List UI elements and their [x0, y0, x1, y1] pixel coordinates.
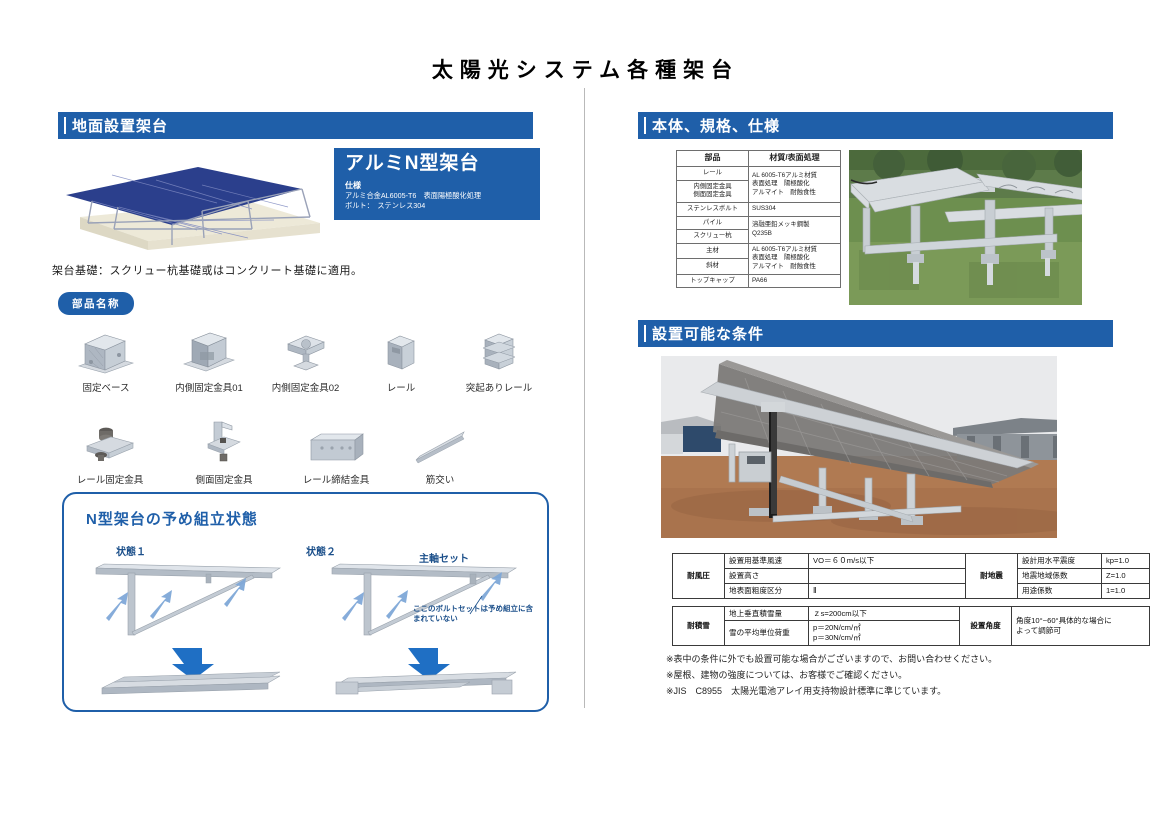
assembly-state-1-diagram	[84, 556, 294, 701]
cell-part: ステンレスボルト	[677, 202, 749, 216]
cell-part: レール	[677, 167, 749, 181]
rail-fixing-clamp-icon	[52, 414, 168, 466]
product-spec-label: 仕様	[345, 180, 531, 191]
table-row: ステンレスボルト SUS304	[677, 202, 841, 216]
base-bracket-icon	[52, 322, 160, 374]
brace-rod-icon	[392, 414, 488, 466]
footnotes: ※表中の条件に外でも設置可能な場合がございますので、お問い合わせください。 ※屋…	[666, 652, 1156, 699]
footnote-2: ※屋根、建物の強度については、お客様でご確認ください。	[666, 668, 1156, 684]
snow-angle-table: 耐積雪 地上垂直積雪量 ｚs=200cm以下 設置角度 角度10°~60°具体的…	[672, 606, 1150, 647]
part-caption: 側面固定金具	[168, 472, 280, 486]
wind-value-1: VO＝６０m/s以下	[809, 554, 966, 569]
quake-key-2: 地震地域係数	[1018, 568, 1102, 583]
section-header-ground-mount: 地面設置架台	[58, 112, 533, 139]
table-row: 設置高さ 地震地域係数 Z=1.0	[673, 568, 1150, 583]
part-caption: 筋交い	[392, 472, 488, 486]
product-spec-line-1: アルミ合金AL6005-T6 表面陽極酸化処理	[345, 191, 531, 201]
cell-part: 主材	[677, 243, 749, 258]
snow-key-1: 地上垂直積雪量	[725, 606, 809, 621]
specification-tables: 耐風圧 設置用基準風速 VO＝６０m/s以下 耐地震 設計用水平震度 kp=1.…	[672, 553, 1150, 646]
table-row: トップキャップ PA66	[677, 274, 841, 288]
quake-key-1: 設計用水平震度	[1018, 554, 1102, 569]
part-item: 筋交い	[392, 414, 488, 486]
part-item: 固定ベース	[52, 322, 160, 394]
parts-gallery: 固定ベース 内側固定金具01	[52, 322, 552, 486]
wind-key-1: 設置用基準風速	[725, 554, 809, 569]
snow-value-2: p＝20N/cm/㎡ p＝30N/cm/㎡	[809, 621, 960, 646]
table-row: レール AL 6005-T6アルミ材質 表面処理 陽極酸化 アルマイト 耐蝕食性	[677, 167, 841, 181]
cell-material: 溶融亜鉛メッキ鋼製 Q235B	[749, 216, 841, 243]
cell-part: 内側固定金具 側面固定金具	[677, 180, 749, 202]
foundation-note: 架台基礎：スクリュー杭基礎或はコンクリート基礎に適用。	[52, 262, 363, 278]
rail-splice-icon	[280, 414, 392, 466]
quake-value-2: Z=1.0	[1102, 568, 1150, 583]
table-header-row: 部品 材質/表面処理	[677, 151, 841, 167]
section-header-body-spec: 本体、規格、仕様	[638, 112, 1113, 139]
table-row: 耐風圧 設置用基準風速 VO＝６０m/s以下 耐地震 設計用水平震度 kp=1.…	[673, 554, 1150, 569]
part-caption: 突起ありレール	[449, 380, 549, 394]
assembly-state-2-diagram	[320, 556, 530, 701]
table-row: 耐積雪 地上垂直積雪量 ｚs=200cm以下 設置角度 角度10°~60°具体的…	[673, 606, 1150, 621]
table-row: 主材 AL 6005-T6アルミ材質 表面処理 陽極酸化 アルマイト 耐蝕食性	[677, 243, 841, 258]
brochure-page: 太陽光システム各種架台 地面設置架台	[0, 0, 1171, 813]
quake-value-3: 1=1.0	[1102, 583, 1150, 598]
col-header-part: 部品	[677, 151, 749, 167]
part-caption: 内側固定金具02	[258, 380, 353, 394]
parts-row-1: 固定ベース 内側固定金具01	[52, 322, 552, 394]
wind-key-3: 地表面粗度区分	[725, 583, 809, 598]
column-divider	[584, 88, 585, 708]
cell-material: AL 6005-T6アルミ材質 表面処理 陽極酸化 アルマイト 耐蝕食性	[749, 243, 841, 274]
material-table: 部品 材質/表面処理 レール AL 6005-T6アルミ材質 表面処理 陽極酸化…	[676, 150, 841, 288]
wind-value-3: Ⅱ	[809, 583, 966, 598]
product-spec-line-2: ボルト： ステンレス304	[345, 201, 531, 211]
ground-mount-illustration	[52, 145, 332, 250]
part-caption: レール固定金具	[52, 472, 168, 486]
wind-value-2	[809, 568, 966, 583]
quake-header: 耐地震	[966, 554, 1018, 599]
snow-key-2: 雪の平均単位荷重	[725, 621, 809, 646]
quake-key-3: 用途係数	[1018, 583, 1102, 598]
pre-assembly-panel: N型架台の予め組立状態 状態１ 状態２ 主軸セット	[62, 492, 549, 712]
wind-header: 耐風圧	[673, 554, 725, 599]
cell-part: スクリュー杭	[677, 230, 749, 244]
wind-key-2: 設置高さ	[725, 568, 809, 583]
page-title: 太陽光システム各種架台	[0, 54, 1171, 84]
cell-part: トップキャップ	[677, 274, 749, 288]
photo-installation-site	[661, 356, 1098, 538]
table-row: 地表面粗度区分 Ⅱ 用途係数 1=1.0	[673, 583, 1150, 598]
parts-row-2: レール固定金具 側面固定金具	[52, 414, 552, 486]
col-header-material: 材質/表面処理	[749, 151, 841, 167]
part-item: 内側固定金具02	[258, 322, 353, 394]
part-item: レール締結金具	[280, 414, 392, 486]
part-item: 内側固定金具01	[160, 322, 258, 394]
pre-assembly-title: N型架台の予め組立状態	[86, 508, 258, 529]
inner-clamp-01-icon	[160, 322, 258, 374]
parts-name-badge: 部品名称	[58, 292, 134, 315]
ribbed-rail-icon	[449, 322, 549, 374]
part-caption: 固定ベース	[52, 380, 160, 394]
cell-part: パイル	[677, 216, 749, 230]
snow-header: 耐積雪	[673, 606, 725, 646]
cell-material: PA66	[749, 274, 841, 288]
side-fixing-clamp-icon	[168, 414, 280, 466]
cell-part: 斜材	[677, 259, 749, 274]
rail-icon	[353, 322, 449, 374]
cell-material: SUS304	[749, 202, 841, 216]
table-row: パイル 溶融亜鉛メッキ鋼製 Q235B	[677, 216, 841, 230]
cell-material: AL 6005-T6アルミ材質 表面処理 陽極酸化 アルマイト 耐蝕食性	[749, 167, 841, 203]
part-caption: レール	[353, 380, 449, 394]
part-caption: レール締結金具	[280, 472, 392, 486]
part-caption: 内側固定金具01	[160, 380, 258, 394]
angle-header: 設置角度	[960, 606, 1012, 646]
product-spec-card: アルミN型架台 仕様 アルミ合金AL6005-T6 表面陽極酸化処理 ボルト： …	[334, 148, 540, 220]
photo-mount-structure	[849, 150, 1097, 305]
footnote-1: ※表中の条件に外でも設置可能な場合がございますので、お問い合わせください。	[666, 652, 1156, 668]
angle-value: 角度10°~60°具体的な場合に よって調節可	[1012, 606, 1150, 646]
part-item: 側面固定金具	[168, 414, 280, 486]
footnote-3: ※JIS C8955 太陽光電池アレイ用支持物設計標準に準じています。	[666, 684, 1156, 700]
bolt-set-note: ここのボルトセットは予め組立に含まれていない	[413, 604, 533, 624]
section-header-conditions: 設置可能な条件	[638, 320, 1113, 347]
snow-value-1: ｚs=200cm以下	[809, 606, 960, 621]
part-item: 突起ありレール	[449, 322, 549, 394]
product-name: アルミN型架台	[345, 154, 531, 175]
wind-quake-table: 耐風圧 設置用基準風速 VO＝６０m/s以下 耐地震 設計用水平震度 kp=1.…	[672, 553, 1150, 599]
part-item: レール	[353, 322, 449, 394]
inner-clamp-02-icon	[258, 322, 353, 374]
part-item: レール固定金具	[52, 414, 168, 486]
quake-value-1: kp=1.0	[1102, 554, 1150, 569]
